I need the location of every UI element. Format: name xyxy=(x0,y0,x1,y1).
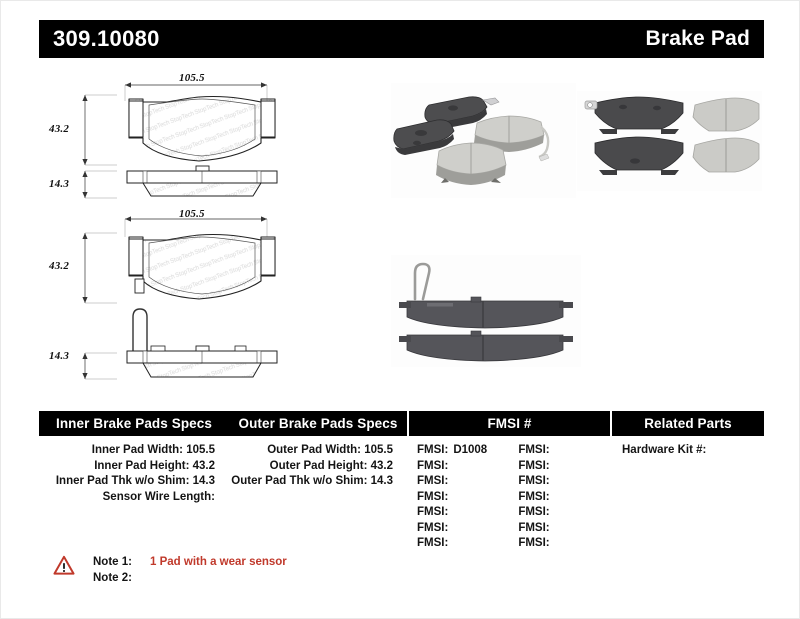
header-bar: 309.10080 Brake Pad xyxy=(39,20,764,58)
fmsi-label: FMSI: xyxy=(518,460,549,472)
fmsi-entry: FMSI: xyxy=(518,536,610,552)
fmsi-label: FMSI: xyxy=(417,522,448,534)
fmsi-value xyxy=(550,491,555,503)
fmsi-value xyxy=(550,537,555,549)
drawing-area: StopTech xyxy=(39,65,764,383)
fmsi-entry: FMSI: xyxy=(518,490,610,506)
outer-pad-height-label: Outer Pad Height: xyxy=(270,460,368,472)
spec-row: Outer Pad Width: 105.5 xyxy=(229,443,407,459)
fmsi-label: FMSI: xyxy=(518,506,549,518)
brake-pad-pair-edge-photo xyxy=(391,255,581,367)
product-spec-sheet: 309.10080 Brake Pad StopTech xyxy=(0,0,800,619)
inner-pad-thickness-label: Inner Pad Thk w/o Shim: xyxy=(56,475,190,487)
outer-specs-column: Outer Pad Width: 105.5 Outer Pad Height:… xyxy=(229,443,407,552)
brake-pad-set-topdown-photo xyxy=(577,91,762,191)
fmsi-row: FMSI: FMSI: xyxy=(417,521,610,537)
fmsi-value xyxy=(550,460,555,472)
spec-row: Outer Pad Thk w/o Shim: 14.3 xyxy=(229,474,407,490)
outer-pad-height-dim: 43.2 xyxy=(49,260,69,272)
fmsi-value xyxy=(448,537,453,549)
notes-section: Note 1: 1 Pad with a wear sensor Note 2: xyxy=(53,554,287,586)
outer-pad-thickness-value: 14.3 xyxy=(371,475,393,487)
inner-pad-thickness-value: 14.3 xyxy=(193,475,215,487)
inner-specs-column: Inner Pad Width: 105.5 Inner Pad Height:… xyxy=(39,443,229,552)
inner-pad-height-label: Inner Pad Height: xyxy=(94,460,189,472)
column-header-related-parts: Related Parts xyxy=(610,411,764,436)
note-2-label: Note 2: xyxy=(93,570,145,586)
fmsi-label: FMSI: xyxy=(518,522,549,534)
brake-pad-set-angled-photo xyxy=(391,83,576,198)
inner-pad-width-dim: 105.5 xyxy=(179,72,205,84)
fmsi-value: D1008 xyxy=(448,444,487,456)
outer-pad-width-value: 105.5 xyxy=(364,444,393,456)
inner-pad-width-label: Inner Pad Width: xyxy=(92,444,183,456)
hardware-kit-label: Hardware Kit #: xyxy=(622,444,706,456)
fmsi-value xyxy=(550,475,555,487)
fmsi-label: FMSI: xyxy=(417,491,448,503)
related-parts-column: Hardware Kit #: xyxy=(610,443,764,552)
spec-row: Inner Pad Height: 43.2 xyxy=(39,459,229,475)
inner-pad-width-value: 105.5 xyxy=(186,444,215,456)
fmsi-value xyxy=(448,475,453,487)
inner-pad-drawing: StopTech xyxy=(39,65,369,205)
part-number: 309.10080 xyxy=(53,26,160,52)
fmsi-entry: FMSI: xyxy=(417,490,518,506)
inner-pad-height-value: 43.2 xyxy=(193,460,215,472)
outer-pad-thickness-label: Outer Pad Thk w/o Shim: xyxy=(231,475,367,487)
fmsi-label: FMSI: xyxy=(417,460,448,472)
column-header-outer-specs: Outer Brake Pads Specs xyxy=(229,411,407,436)
fmsi-entry: FMSI:D1008 xyxy=(417,443,518,459)
inner-pad-thickness-dim: 14.3 xyxy=(49,178,69,190)
inner-pad-height-dim: 43.2 xyxy=(49,123,69,135)
table-header-row: Inner Brake Pads Specs Outer Brake Pads … xyxy=(39,411,764,436)
column-header-fmsi: FMSI # xyxy=(407,411,610,436)
fmsi-label: FMSI: xyxy=(417,475,448,487)
sensor-wire-length-label: Sensor Wire Length: xyxy=(103,491,215,503)
fmsi-entry: FMSI: xyxy=(518,521,610,537)
fmsi-entry: FMSI: xyxy=(518,474,610,490)
table-body: Inner Pad Width: 105.5 Inner Pad Height:… xyxy=(39,436,764,552)
outer-pad-width-dim: 105.5 xyxy=(179,208,205,220)
spec-row: Outer Pad Height: 43.2 xyxy=(229,459,407,475)
note-1-value: 1 Pad with a wear sensor xyxy=(145,554,287,570)
warning-triangle-icon xyxy=(53,555,75,575)
fmsi-value xyxy=(550,522,555,534)
fmsi-row: FMSI: FMSI: xyxy=(417,459,610,475)
fmsi-entry: FMSI: xyxy=(417,536,518,552)
note-row: Note 1: 1 Pad with a wear sensor xyxy=(93,554,287,570)
column-header-inner-specs: Inner Brake Pads Specs xyxy=(39,411,229,436)
fmsi-row: FMSI: FMSI: xyxy=(417,536,610,552)
spec-table: Inner Brake Pads Specs Outer Brake Pads … xyxy=(39,411,764,552)
fmsi-entry: FMSI: xyxy=(518,459,610,475)
outer-pad-height-value: 43.2 xyxy=(371,460,393,472)
page-title: Brake Pad xyxy=(645,27,750,51)
fmsi-row: FMSI: FMSI: xyxy=(417,490,610,506)
fmsi-value xyxy=(448,491,453,503)
fmsi-entry: FMSI: xyxy=(417,474,518,490)
fmsi-label: FMSI: xyxy=(518,537,549,549)
fmsi-label: FMSI: xyxy=(417,444,448,456)
fmsi-row: FMSI:D1008 FMSI: xyxy=(417,443,610,459)
fmsi-entry: FMSI: xyxy=(417,459,518,475)
fmsi-value xyxy=(550,506,555,518)
fmsi-row: FMSI: FMSI: xyxy=(417,505,610,521)
spec-row: Inner Pad Thk w/o Shim: 14.3 xyxy=(39,474,229,490)
fmsi-row: FMSI: FMSI: xyxy=(417,474,610,490)
outer-pad-thickness-dim: 14.3 xyxy=(49,350,69,362)
related-part-row: Hardware Kit #: xyxy=(610,443,764,459)
fmsi-value xyxy=(448,460,453,472)
fmsi-label: FMSI: xyxy=(518,491,549,503)
fmsi-entry: FMSI: xyxy=(417,505,518,521)
fmsi-value xyxy=(448,522,453,534)
fmsi-column: FMSI:D1008 FMSI: FMSI: FMSI: FMSI: FMSI:… xyxy=(407,443,610,552)
fmsi-value xyxy=(448,506,453,518)
fmsi-label: FMSI: xyxy=(417,506,448,518)
fmsi-label: FMSI: xyxy=(518,475,549,487)
spec-row: Inner Pad Width: 105.5 xyxy=(39,443,229,459)
spec-row: Sensor Wire Length: xyxy=(39,490,229,506)
outer-pad-width-label: Outer Pad Width: xyxy=(267,444,361,456)
note-1-label: Note 1: xyxy=(93,554,145,570)
fmsi-entry: FMSI: xyxy=(417,521,518,537)
fmsi-label: FMSI: xyxy=(417,537,448,549)
note-row: Note 2: xyxy=(93,570,287,586)
fmsi-value xyxy=(550,444,555,456)
fmsi-label: FMSI: xyxy=(518,444,549,456)
outer-pad-drawing xyxy=(39,205,369,383)
note-rows: Note 1: 1 Pad with a wear sensor Note 2: xyxy=(93,554,287,586)
fmsi-entry: FMSI: xyxy=(518,505,610,521)
fmsi-entry: FMSI: xyxy=(518,443,610,459)
